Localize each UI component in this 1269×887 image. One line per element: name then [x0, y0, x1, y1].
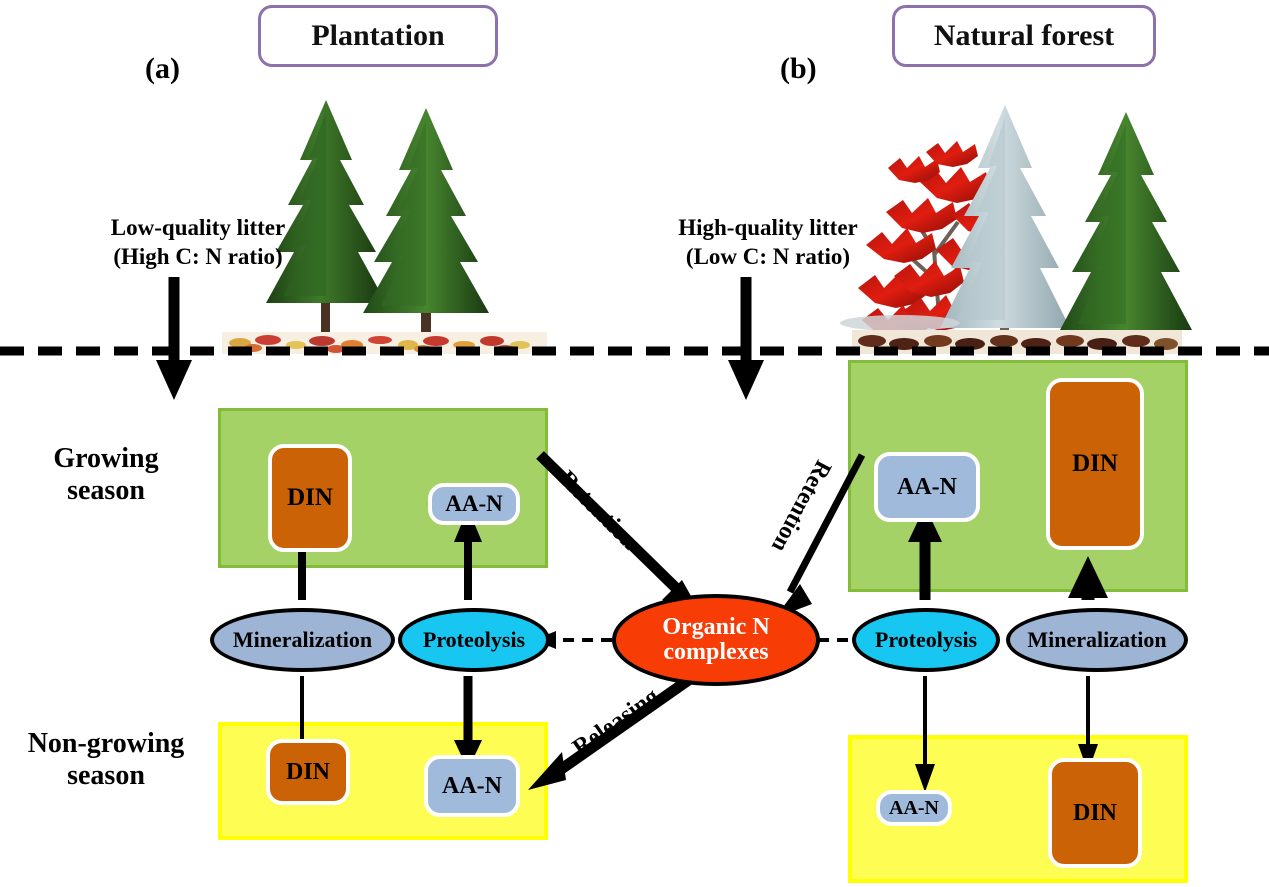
figure-canvas: (a) (b) Plantation Natural forest Low-qu…: [0, 0, 1269, 887]
process-proteolysis-natural-forest-label: Proteolysis: [875, 628, 977, 651]
process-proteolysis-plantation-label: Proteolysis: [423, 628, 525, 651]
season-label-growing: Growing season: [6, 443, 206, 507]
natural-forest-blue-spruce: [940, 105, 1070, 344]
natural-forest-green-fir: [1060, 112, 1192, 344]
panel-title-plantation: Plantation: [258, 5, 498, 67]
process-mineralization-natural-forest: Mineralization: [1006, 608, 1188, 672]
season-label-non-growing: Non-growing season: [0, 728, 212, 792]
process-organic-n-complexes-line2: complexes: [663, 640, 768, 665]
pool-aan-nongrowing-plantation: AA-N: [424, 755, 520, 817]
pool-aan-nongrowing-plantation-label: AA-N: [442, 773, 502, 800]
panel-title-natural-forest-label: Natural forest: [934, 19, 1114, 53]
pool-din-nongrowing-plantation-label: DIN: [286, 759, 330, 786]
pool-din-nongrowing-plantation: DIN: [266, 739, 350, 805]
pool-din-nongrowing-natural-forest-label: DIN: [1073, 800, 1117, 827]
pool-din-growing-natural-forest: DIN: [1046, 378, 1144, 550]
process-mineralization-natural-forest-label: Mineralization: [1027, 628, 1166, 651]
season-label-growing-line1: Growing: [6, 443, 206, 475]
pool-aan-growing-plantation-label: AA-N: [445, 491, 503, 517]
pool-din-nongrowing-natural-forest: DIN: [1048, 758, 1142, 868]
process-mineralization-plantation-label: Mineralization: [233, 628, 372, 651]
process-organic-n-complexes: Organic N complexes: [612, 594, 820, 686]
process-organic-n-complexes-line1: Organic N: [662, 615, 769, 640]
panel-letter-b: (b): [780, 52, 817, 86]
litter-label-natural-forest: High-quality litter (Low C: N ratio): [638, 213, 898, 272]
pool-aan-growing-plantation: AA-N: [428, 483, 520, 525]
pool-aan-nongrowing-natural-forest-label: AA-N: [889, 797, 939, 820]
panel-letter-a: (a): [145, 52, 180, 86]
litter-label-natural-forest-line1: High-quality litter: [638, 213, 898, 242]
process-proteolysis-natural-forest: Proteolysis: [852, 608, 1000, 672]
pool-aan-growing-natural-forest: AA-N: [874, 452, 980, 522]
litter-label-natural-forest-line2: (Low C: N ratio): [638, 242, 898, 271]
process-proteolysis-plantation: Proteolysis: [398, 608, 550, 672]
plantation-tree-right: [363, 108, 489, 340]
season-label-non-growing-line1: Non-growing: [0, 728, 212, 760]
pool-din-growing-natural-forest-label: DIN: [1072, 450, 1118, 478]
season-label-growing-line2: season: [6, 475, 206, 507]
panel-title-natural-forest: Natural forest: [892, 5, 1156, 67]
litter-label-plantation-line1: Low-quality litter: [68, 213, 328, 242]
panel-title-plantation-label: Plantation: [311, 19, 444, 53]
pool-din-growing-plantation: DIN: [268, 444, 352, 552]
pool-aan-growing-natural-forest-label: AA-N: [897, 474, 957, 501]
pool-din-growing-plantation-label: DIN: [287, 484, 333, 512]
process-mineralization-plantation: Mineralization: [210, 608, 395, 672]
season-label-non-growing-line2: season: [0, 760, 212, 792]
pool-aan-nongrowing-natural-forest: AA-N: [876, 790, 952, 826]
litter-label-plantation: Low-quality litter (High C: N ratio): [68, 213, 328, 272]
litter-label-plantation-line2: (High C: N ratio): [68, 242, 328, 271]
plantation-litter-layer: [222, 332, 547, 354]
